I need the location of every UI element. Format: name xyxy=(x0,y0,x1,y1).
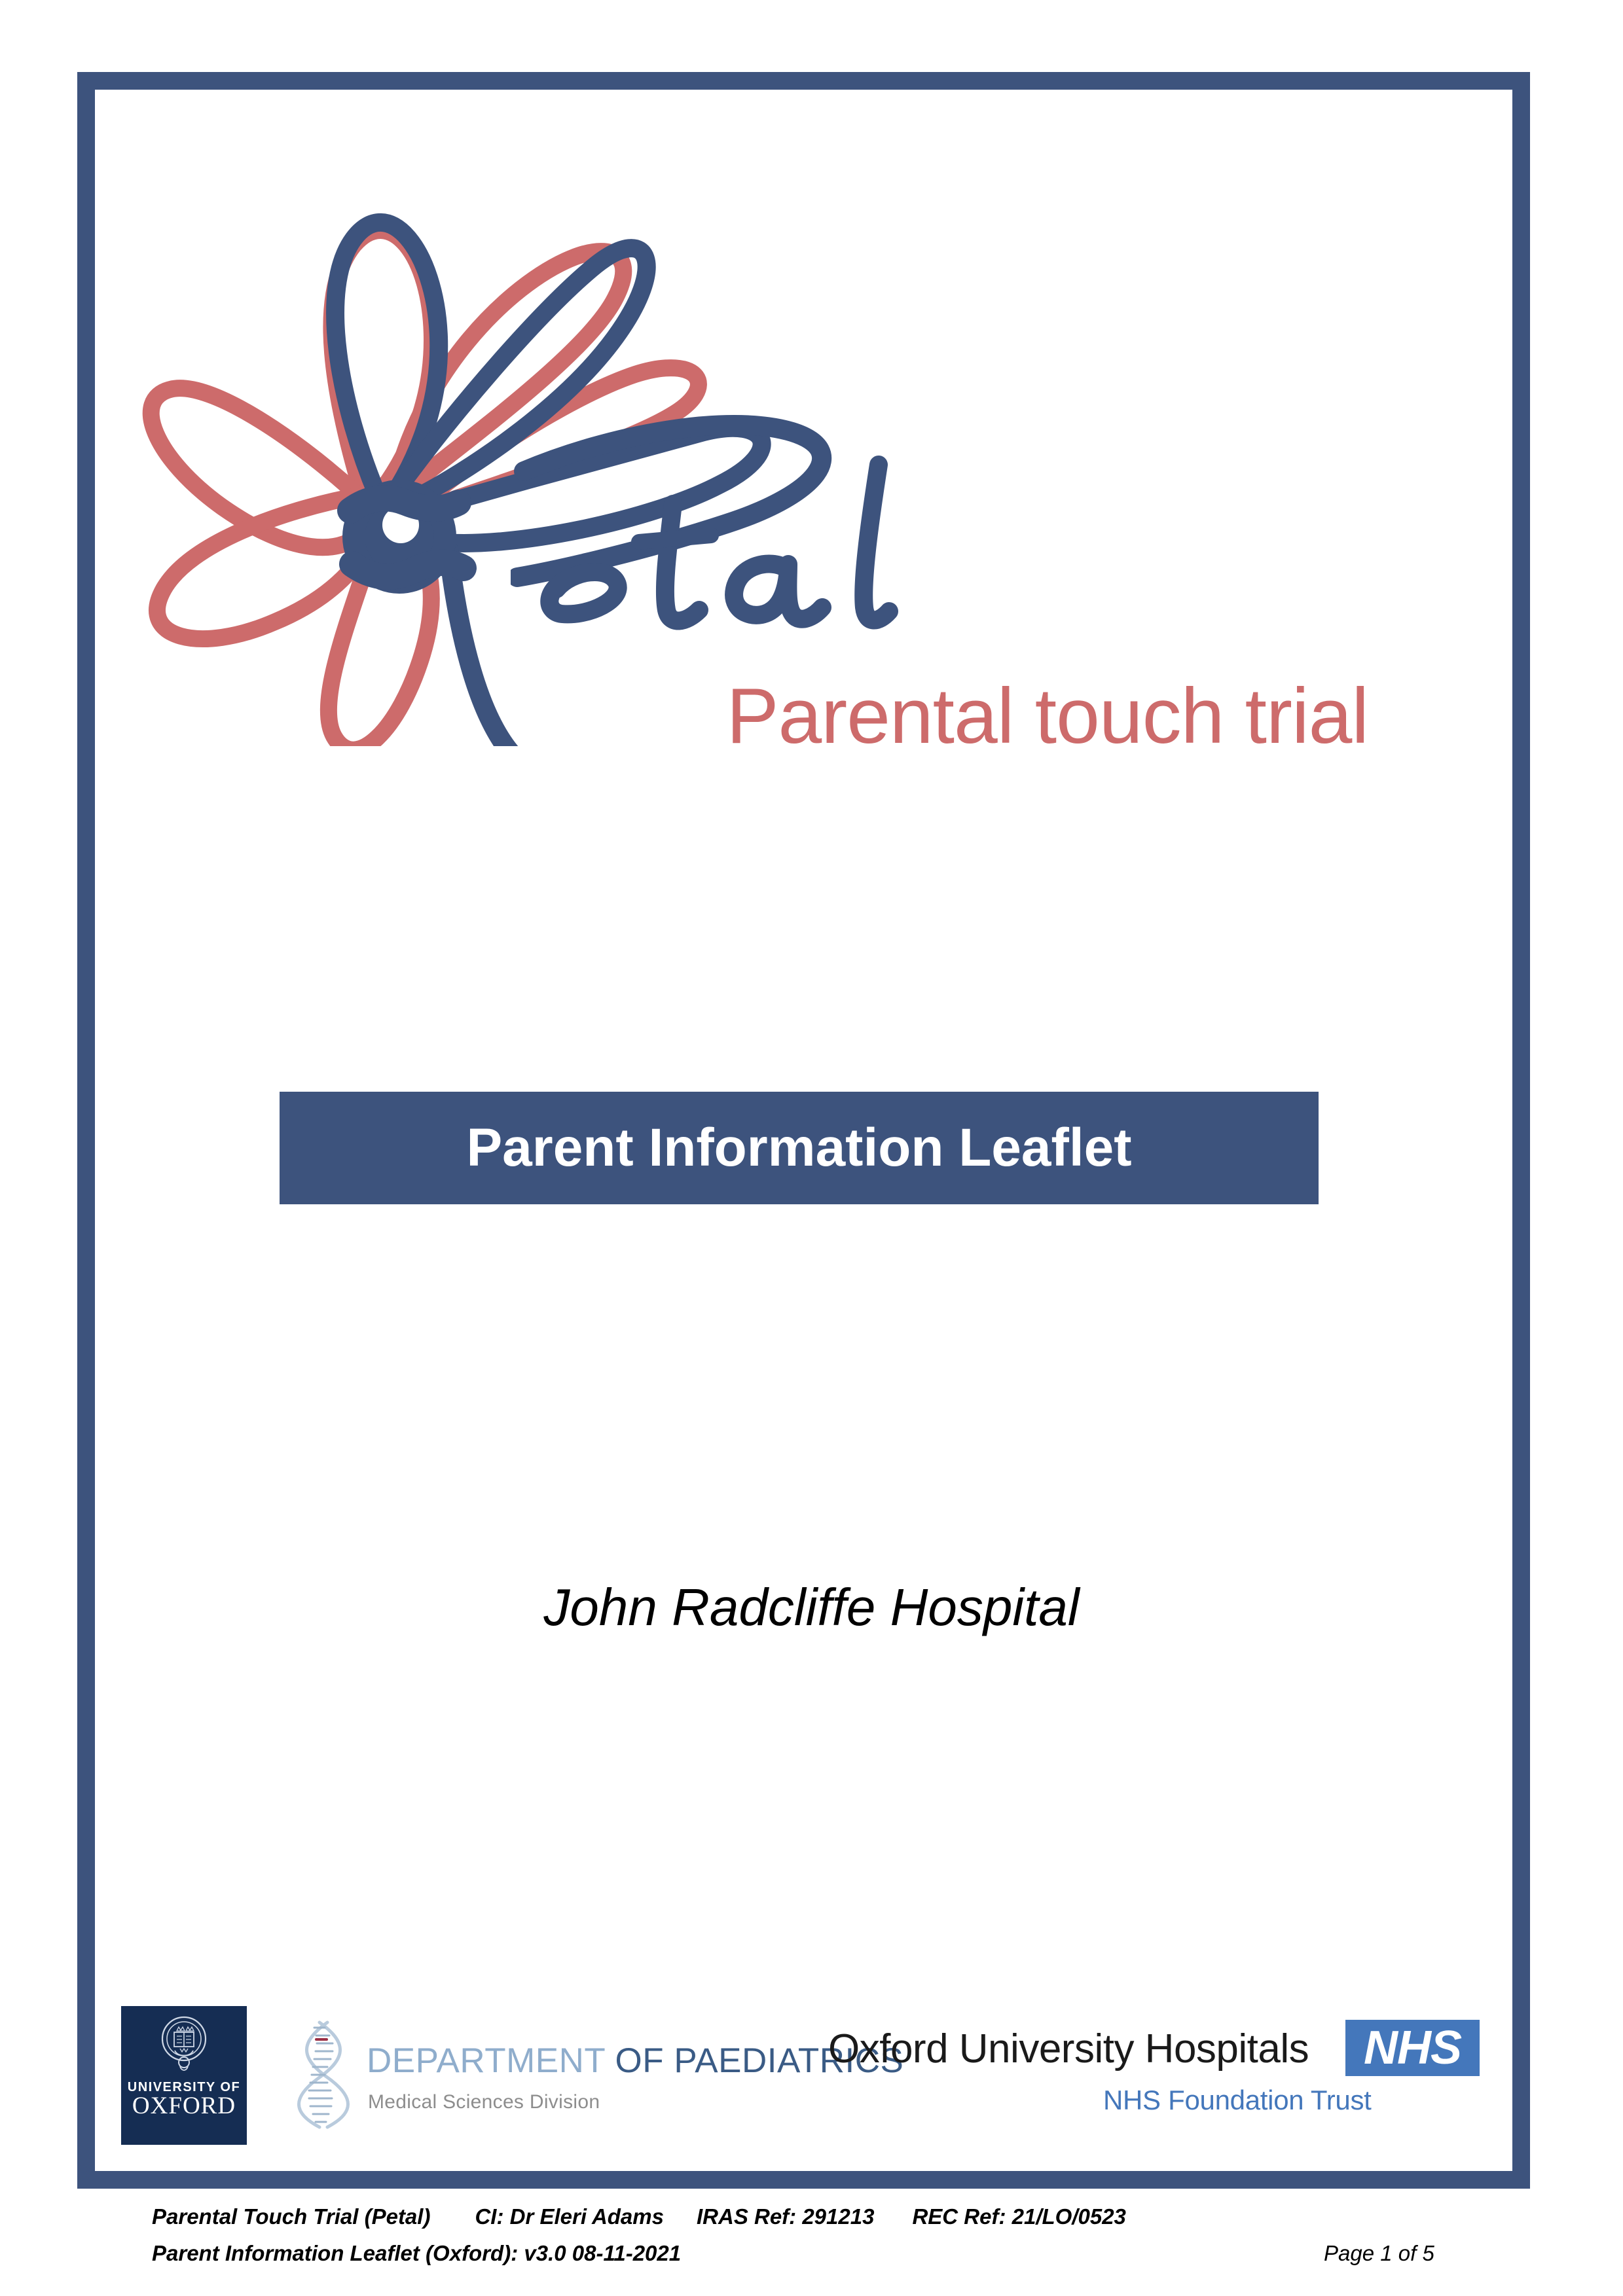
page-footer: Parental Touch Trial (Petal)CI: Dr Eleri… xyxy=(0,2204,1623,2289)
footer-line-1: Parental Touch Trial (Petal)CI: Dr Eleri… xyxy=(152,2204,1126,2229)
oxford-label-oxford: OXFORD xyxy=(121,2094,247,2119)
footer-version-line: Parent Information Leaflet (Oxford): v3.… xyxy=(152,2241,681,2266)
logo-tagline: Parental touch trial xyxy=(288,671,1368,761)
department-of-paediatrics-logo: DEPARTMENT OF PAEDIATRICS Medical Scienc… xyxy=(295,2017,779,2135)
ouh-foundation-trust-label: NHS Foundation Trust xyxy=(1103,2087,1372,2114)
oxford-label-university-of: UNIVERSITY OF xyxy=(121,2081,247,2094)
page-title: Parent Information Leaflet xyxy=(466,1117,1131,1179)
footer-trial-name: Parental Touch Trial (Petal) xyxy=(152,2204,430,2229)
institution-logos-row: UNIVERSITY OF OXFORD xyxy=(121,2003,1503,2153)
footer-chief-investigator: CI: Dr Eleri Adams xyxy=(475,2204,664,2229)
department-logo-title: DEPARTMENT OF PAEDIATRICS xyxy=(367,2043,903,2078)
ouh-title: Oxford University Hospitals xyxy=(828,2029,1309,2070)
oxford-university-hospitals-nhs-logo: Oxford University Hospitals NHS NHS Foun… xyxy=(828,2015,1483,2139)
oxford-crest-icon xyxy=(155,2013,213,2078)
footer-page-number: Page 1 of 5 xyxy=(1324,2241,1434,2266)
title-banner: Parent Information Leaflet xyxy=(280,1092,1319,1204)
footer-iras-ref: IRAS Ref: 291213 xyxy=(697,2204,874,2229)
site-name: John Radcliffe Hospital xyxy=(0,1577,1623,1638)
dna-helix-icon xyxy=(295,2017,360,2132)
footer-rec-ref: REC Ref: 21/LO/0523 xyxy=(912,2204,1125,2229)
department-word-department: DEPARTMENT xyxy=(367,2041,605,2080)
petal-script-wordmark xyxy=(511,373,969,648)
nhs-logo-icon: NHS xyxy=(1345,2020,1480,2076)
university-of-oxford-logo: UNIVERSITY OF OXFORD xyxy=(121,2006,247,2145)
department-logo-subtitle: Medical Sciences Division xyxy=(368,2091,600,2113)
petal-logo-block: Parental touch trial xyxy=(92,92,1368,825)
